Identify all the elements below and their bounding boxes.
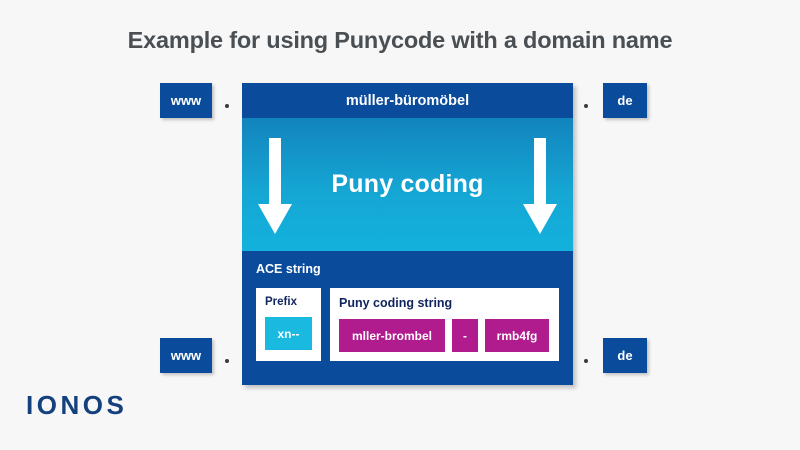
ace-string-panel: ACE string Prefix xn-- Puny coding strin… <box>242 251 573 385</box>
puny-chip-encoded-suffix: rmb4fg <box>485 319 549 352</box>
top-right-dot-separator <box>584 104 588 108</box>
top-subdomain-label: www <box>171 93 201 108</box>
page-title: Example for using Punycode with a domain… <box>0 27 800 54</box>
puny-chip-encoded-label: mller-brombel <box>339 319 445 352</box>
top-tld-label: de <box>617 93 632 108</box>
ionos-logo: IONOS <box>26 390 127 421</box>
ace-string-title: ACE string <box>256 262 559 276</box>
top-left-dot-separator <box>225 104 229 108</box>
prefix-card: Prefix xn-- <box>256 288 321 361</box>
puny-string-chip-row: mller-brombel - rmb4fg <box>339 319 550 352</box>
arrow-down-icon <box>523 138 557 234</box>
bottom-left-dot-separator <box>225 359 229 363</box>
domain-name-bar: müller-büromöbel <box>242 83 573 118</box>
prefix-value-chip: xn-- <box>265 317 312 350</box>
bottom-tld-label: de <box>617 348 632 363</box>
ace-string-row: Prefix xn-- Puny coding string mller-bro… <box>256 288 559 361</box>
bottom-right-dot-separator <box>584 359 588 363</box>
bottom-subdomain-box: www <box>160 338 212 373</box>
punycode-diagram: müller-büromöbel Puny coding ACE string … <box>242 83 573 385</box>
domain-name-label: müller-büromöbel <box>346 93 469 109</box>
top-tld-box: de <box>603 83 647 118</box>
slide-canvas: Example for using Punycode with a domain… <box>0 0 800 450</box>
prefix-card-title: Prefix <box>265 296 312 308</box>
puny-coding-label: Puny coding <box>331 170 483 199</box>
puny-coding-panel: Puny coding <box>242 118 573 251</box>
puny-chip-delimiter: - <box>452 319 478 352</box>
bottom-tld-box: de <box>603 338 647 373</box>
bottom-subdomain-label: www <box>171 348 201 363</box>
puny-string-card-title: Puny coding string <box>339 296 550 310</box>
top-subdomain-box: www <box>160 83 212 118</box>
arrow-down-icon <box>258 138 292 234</box>
puny-string-card: Puny coding string mller-brombel - rmb4f… <box>330 288 559 361</box>
